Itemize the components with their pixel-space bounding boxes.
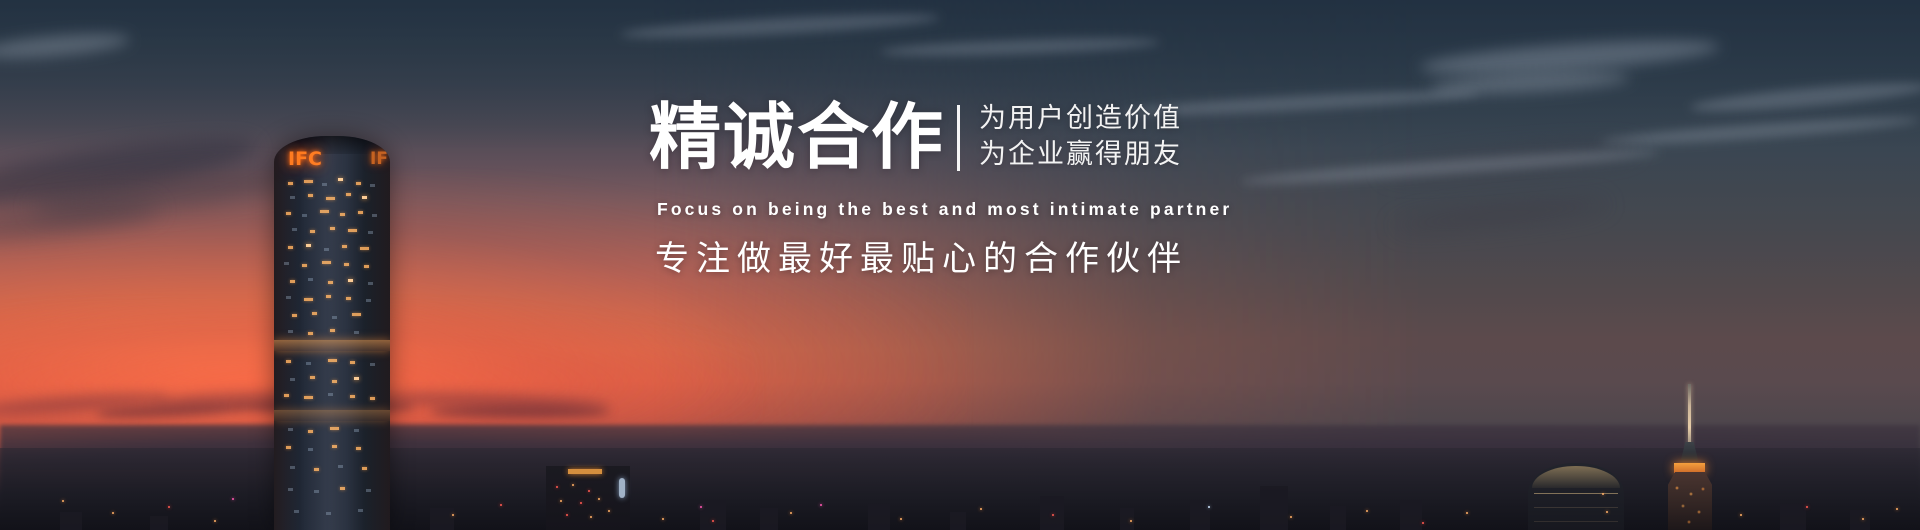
page-title: 精诚合作 [649, 101, 945, 173]
subhead-line-2: 为企业赢得朋友 [979, 141, 1182, 169]
hero-banner: IFC IF 精诚合作 [0, 0, 1920, 530]
subhead-line-1: 为用户创造价值 [979, 105, 1182, 133]
banner-content: 精诚合作 为用户创造价值 为企业赢得朋友 Focus on being the … [0, 0, 1920, 530]
headline-divider [957, 105, 960, 171]
subhead-list: 为用户创造价值 为企业赢得朋友 [979, 101, 1182, 173]
tagline-english: Focus on being the best and most intimat… [657, 199, 1232, 220]
tagline-chinese: 专注做最好最贴心的合作伙伴 [655, 231, 1188, 280]
headline-row: 精诚合作 为用户创造价值 为企业赢得朋友 [649, 101, 1182, 173]
